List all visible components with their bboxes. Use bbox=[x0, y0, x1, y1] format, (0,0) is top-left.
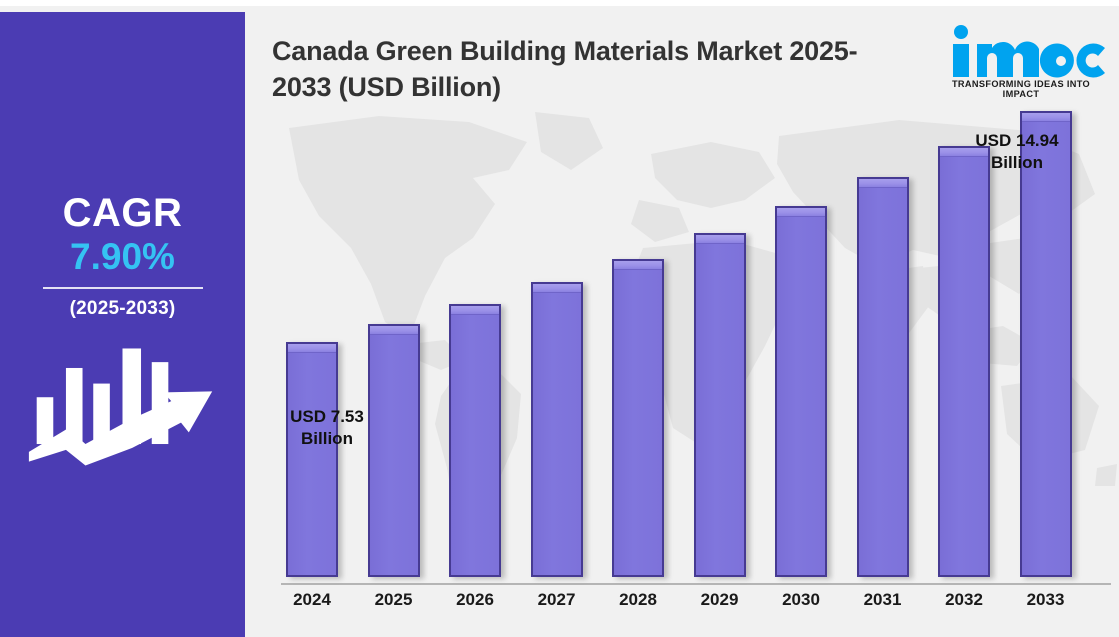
x-axis-label-2030: 2030 bbox=[765, 590, 837, 610]
bar-top-face bbox=[777, 208, 825, 217]
bar-2030 bbox=[775, 206, 827, 577]
bar-2033 bbox=[1020, 111, 1072, 577]
bar-2032 bbox=[938, 146, 990, 577]
x-axis-label-2031: 2031 bbox=[847, 590, 919, 610]
bar-2026 bbox=[449, 304, 501, 577]
bar-top-face bbox=[614, 261, 662, 270]
bar-2025 bbox=[368, 324, 420, 577]
bar-2027 bbox=[531, 282, 583, 577]
callout-last-line2: Billion bbox=[957, 152, 1077, 174]
cagr-label: CAGR bbox=[0, 192, 245, 234]
cagr-divider bbox=[43, 287, 203, 289]
bar-top-face bbox=[533, 284, 581, 293]
x-axis-label-2026: 2026 bbox=[439, 590, 511, 610]
callout-last-value: USD 14.94 Billion bbox=[957, 130, 1077, 174]
bar-top-face bbox=[1022, 113, 1070, 122]
callout-first-line2: Billion bbox=[267, 428, 387, 450]
bar-2029 bbox=[694, 233, 746, 577]
bar-2024 bbox=[286, 342, 338, 577]
cagr-sidebar: CAGR 7.90% (2025-2033) bbox=[0, 12, 245, 637]
bar-top-face bbox=[696, 235, 744, 244]
bar-top-face bbox=[451, 306, 499, 315]
x-axis-label-2032: 2032 bbox=[928, 590, 1000, 610]
callout-first-value: USD 7.53 Billion bbox=[267, 406, 387, 450]
x-axis-label-2027: 2027 bbox=[521, 590, 593, 610]
bar-top-face bbox=[370, 326, 418, 335]
growth-arrow-bar-chart-icon bbox=[25, 346, 220, 466]
callout-last-line1: USD 14.94 bbox=[957, 130, 1077, 152]
x-axis-label-2025: 2025 bbox=[358, 590, 430, 610]
chart-plot-area: 2024202520262027202820292030203120322033… bbox=[245, 12, 1119, 637]
callout-first-line1: USD 7.53 bbox=[267, 406, 387, 428]
x-axis-label-2024: 2024 bbox=[276, 590, 348, 610]
bar-2031 bbox=[857, 177, 909, 577]
bar-2028 bbox=[612, 259, 664, 577]
x-axis-label-2029: 2029 bbox=[684, 590, 756, 610]
chart-baseline bbox=[281, 583, 1111, 585]
x-axis-label-2028: 2028 bbox=[602, 590, 674, 610]
x-axis-label-2033: 2033 bbox=[1010, 590, 1082, 610]
cagr-block: CAGR 7.90% (2025-2033) bbox=[0, 192, 245, 320]
cagr-period: (2025-2033) bbox=[0, 298, 245, 320]
bar-top-face bbox=[288, 344, 336, 353]
bar-top-face bbox=[859, 179, 907, 188]
infographic-canvas: CAGR 7.90% (2025-2033) Canada Green Buil… bbox=[0, 0, 1119, 637]
cagr-value: 7.90% bbox=[0, 236, 245, 279]
